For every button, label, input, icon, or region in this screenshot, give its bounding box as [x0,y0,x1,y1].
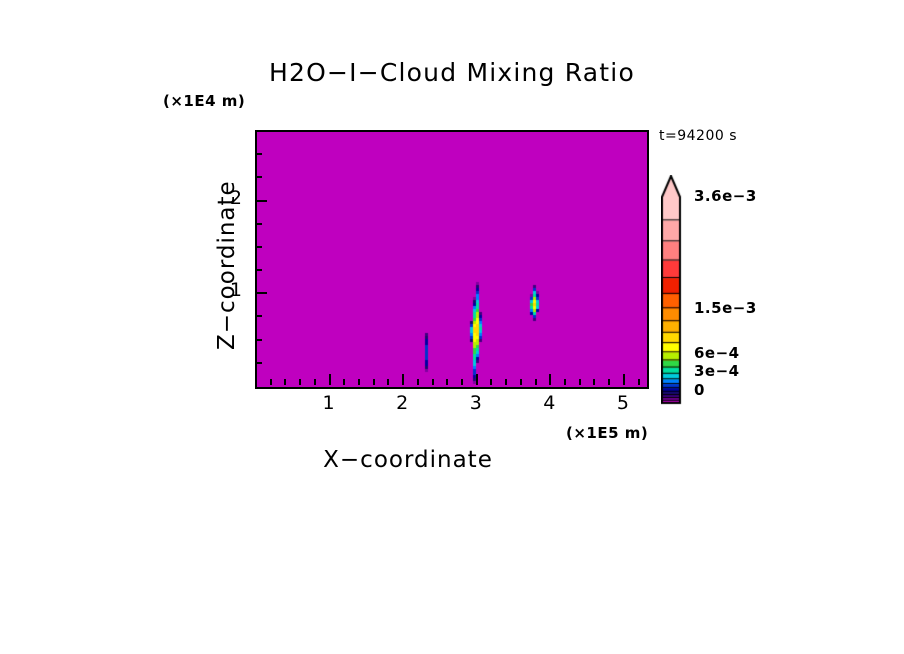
axis-tick [255,200,267,202]
axis-tick [255,176,262,178]
axis-tick [329,374,331,385]
axis-tick [255,223,262,225]
axis-tick [593,379,595,385]
x-axis-label-text: X−coordinate [323,447,493,473]
axis-tick [446,379,448,385]
plot-area [255,130,649,389]
axis-tick [358,379,360,385]
axis-tick [387,379,389,385]
colorbar-tick-label: 3e−4 [694,362,740,380]
axis-tick [549,374,551,385]
axis-tick [564,379,566,385]
axis-tick [255,246,262,248]
axis-tick [284,379,286,385]
axis-tick [402,374,404,385]
axis-tick [343,379,345,385]
chart-title: H2O−I−Cloud Mixing Ratio [0,58,904,87]
axis-tick [314,379,316,385]
x-tick-label: 4 [529,392,569,414]
y-axis-units: (×1E4 m) [163,92,245,110]
x-tick-label: 3 [456,392,496,414]
axis-tick [623,374,625,385]
axis-tick [476,374,478,385]
x-tick-label: 1 [309,392,349,414]
y-tick-label: 1 [222,279,242,301]
colorbar-gradient [661,175,691,425]
axis-tick [490,379,492,385]
axis-tick [520,379,522,385]
x-tick-label: 5 [603,392,643,414]
colorbar-tick-label: 3.6e−3 [694,187,757,205]
axis-tick [255,153,262,155]
axis-tick [461,379,463,385]
colorbar-tick-label: 1.5e−3 [694,299,757,317]
axis-tick [432,379,434,385]
y-tick-label: 2 [222,187,242,209]
axis-tick [638,379,640,385]
axis-tick [270,379,272,385]
x-axis-units: (×1E5 m) [566,424,648,442]
x-axis-label: X−coordinate [0,447,904,473]
axis-tick [255,339,262,341]
axis-tick [535,379,537,385]
axis-tick [255,315,262,317]
time-annotation: t=94200 s [659,128,737,144]
axis-tick [373,379,375,385]
axis-tick [608,379,610,385]
x-tick-label: 2 [382,392,422,414]
axis-tick [505,379,507,385]
axis-tick [579,379,581,385]
colorbar-tick-label: 0 [694,381,705,399]
axis-tick [255,362,262,364]
colorbar [661,175,681,403]
axis-tick [255,292,267,294]
axis-tick [299,379,301,385]
axis-tick [417,379,419,385]
axis-tick [255,269,262,271]
figure-canvas: H2O−I−Cloud Mixing Ratio (×1E4 m) t=9420… [0,0,904,654]
contour-plot [257,132,647,387]
colorbar-tick-label: 6e−4 [694,344,740,362]
